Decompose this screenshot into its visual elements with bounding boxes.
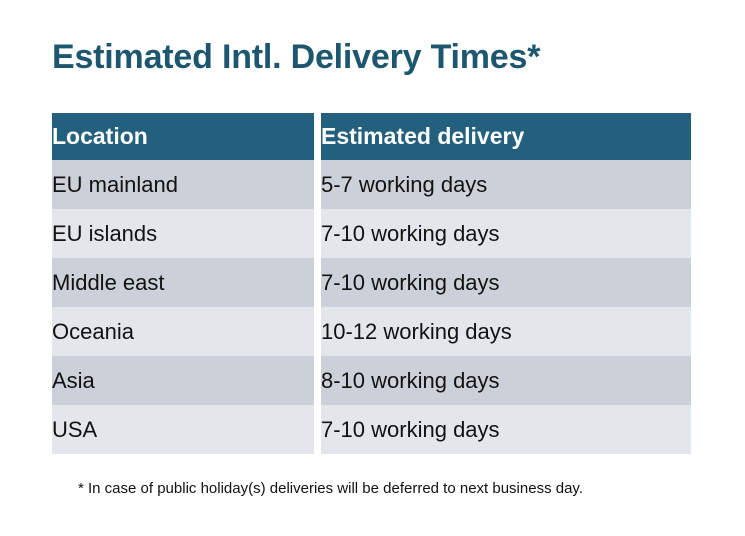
cell-delivery: 5-7 working days: [321, 160, 691, 209]
cell-location: EU mainland: [52, 160, 314, 209]
footnote: * In case of public holiday(s) deliverie…: [78, 480, 583, 497]
table-header: Location Estimated delivery: [52, 113, 691, 160]
cell-location: Asia: [52, 356, 314, 405]
cell-location: Middle east: [52, 258, 314, 307]
row-divider: [314, 258, 321, 307]
table-header-row: Location Estimated delivery: [52, 113, 691, 160]
table-row: USA 7-10 working days: [52, 405, 691, 454]
table-row: Oceania 10-12 working days: [52, 307, 691, 356]
column-header-delivery: Estimated delivery: [321, 113, 691, 160]
cell-location: EU islands: [52, 209, 314, 258]
table-row: EU islands 7-10 working days: [52, 209, 691, 258]
row-divider: [314, 209, 321, 258]
page-title: Estimated Intl. Delivery Times*: [52, 38, 540, 77]
table-row: Asia 8-10 working days: [52, 356, 691, 405]
row-divider: [314, 356, 321, 405]
cell-delivery: 7-10 working days: [321, 258, 691, 307]
row-divider: [314, 405, 321, 454]
cell-location: USA: [52, 405, 314, 454]
delivery-times-page: Estimated Intl. Delivery Times* Location…: [0, 0, 745, 536]
table-body: EU mainland 5-7 working days EU islands …: [52, 160, 691, 454]
row-divider: [314, 307, 321, 356]
cell-delivery: 7-10 working days: [321, 209, 691, 258]
cell-delivery: 10-12 working days: [321, 307, 691, 356]
column-divider: [314, 113, 321, 160]
column-header-location: Location: [52, 113, 314, 160]
row-divider: [314, 160, 321, 209]
delivery-times-table: Location Estimated delivery EU mainland …: [52, 113, 691, 454]
table-row: Middle east 7-10 working days: [52, 258, 691, 307]
table-row: EU mainland 5-7 working days: [52, 160, 691, 209]
cell-delivery: 8-10 working days: [321, 356, 691, 405]
cell-location: Oceania: [52, 307, 314, 356]
cell-delivery: 7-10 working days: [321, 405, 691, 454]
